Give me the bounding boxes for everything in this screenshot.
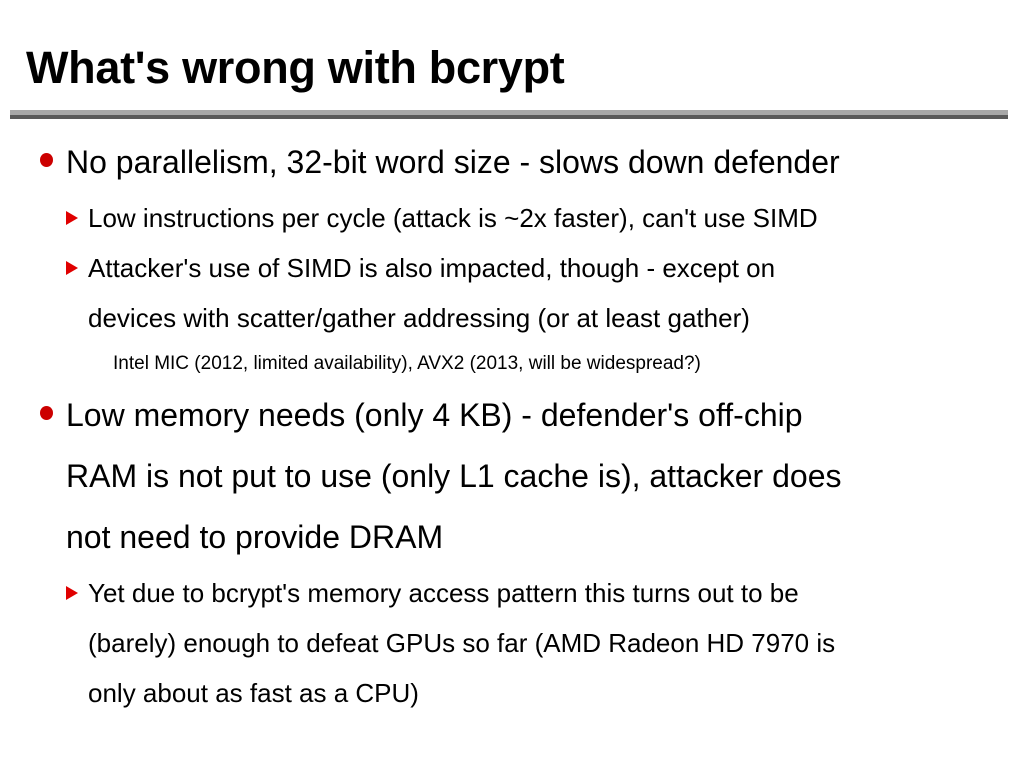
red-dot-bullet-icon <box>40 153 53 167</box>
bullet-line: only about as fast as a CPU) <box>88 668 1004 718</box>
slide: What's wrong with bcrypt No parallelism,… <box>0 0 1024 768</box>
bullet-line: (barely) enough to defeat GPUs so far (A… <box>88 618 1004 668</box>
bullet-level1: No parallelism, 32-bit word size - slows… <box>0 132 1024 193</box>
bullet-level2: Attacker's use of SIMD is also impacted,… <box>0 243 1024 343</box>
red-triangle-bullet-icon <box>66 211 78 225</box>
bullet-line: No parallelism, 32-bit word size - slows… <box>66 132 1004 193</box>
slide-body: No parallelism, 32-bit word size - slows… <box>0 132 1024 718</box>
bullet-level2: Low instructions per cycle (attack is ~2… <box>0 193 1024 243</box>
bullet-line: RAM is not put to use (only L1 cache is)… <box>66 446 1004 507</box>
red-dot-bullet-icon <box>40 406 53 420</box>
red-triangle-bullet-icon <box>66 261 78 275</box>
red-triangle-bullet-icon <box>66 586 78 600</box>
divider-dark-band <box>10 115 1008 119</box>
bullet-line: devices with scatter/gather addressing (… <box>88 293 1004 343</box>
bullet-level2: Yet due to bcrypt's memory access patter… <box>0 568 1024 718</box>
bullet-line: not need to provide DRAM <box>66 507 1004 568</box>
bullet-line: Low memory needs (only 4 KB) - defender'… <box>66 385 1004 446</box>
bullet-level3: Intel MIC (2012, limited availability), … <box>0 343 1024 385</box>
bullet-line: Attacker's use of SIMD is also impacted,… <box>88 243 1004 293</box>
bullet-level1: Low memory needs (only 4 KB) - defender'… <box>0 385 1024 568</box>
page-title: What's wrong with bcrypt <box>26 41 565 95</box>
bullet-line: Yet due to bcrypt's memory access patter… <box>88 568 1004 618</box>
bullet-line: Intel MIC (2012, limited availability), … <box>113 343 1004 385</box>
title-divider-rule <box>10 110 1008 119</box>
bullet-line: Low instructions per cycle (attack is ~2… <box>88 193 1004 243</box>
